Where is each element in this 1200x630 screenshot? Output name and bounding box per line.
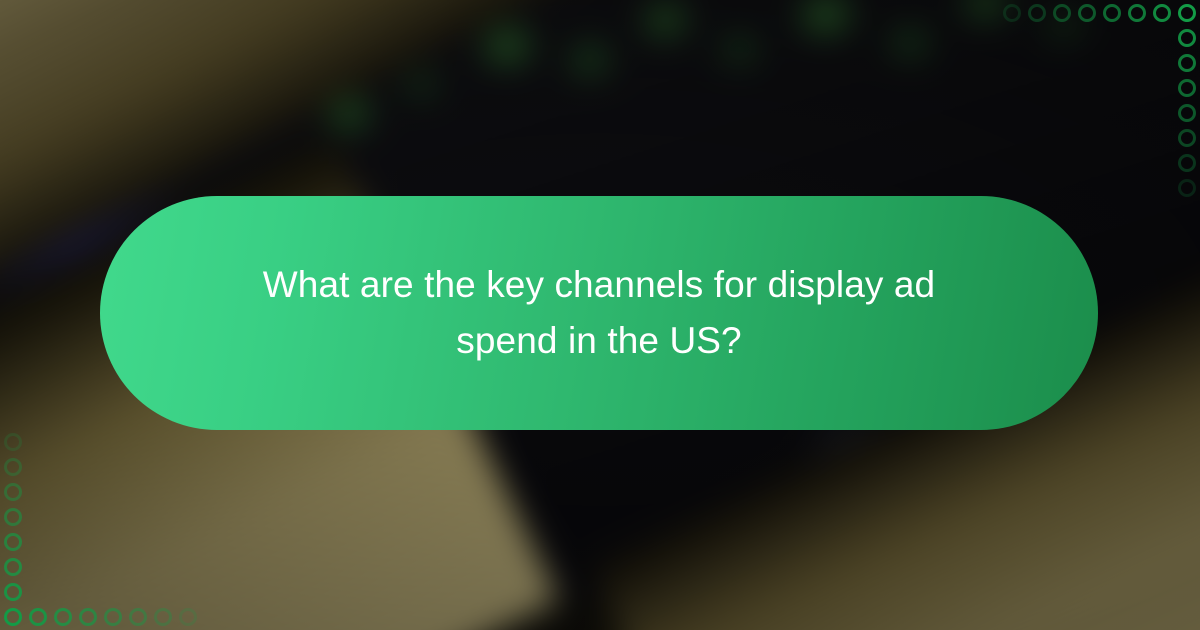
question-card-graphic: What are the key channels for display ad… xyxy=(0,0,1200,630)
question-text: What are the key channels for display ad… xyxy=(249,257,949,369)
question-card: What are the key channels for display ad… xyxy=(100,196,1098,430)
